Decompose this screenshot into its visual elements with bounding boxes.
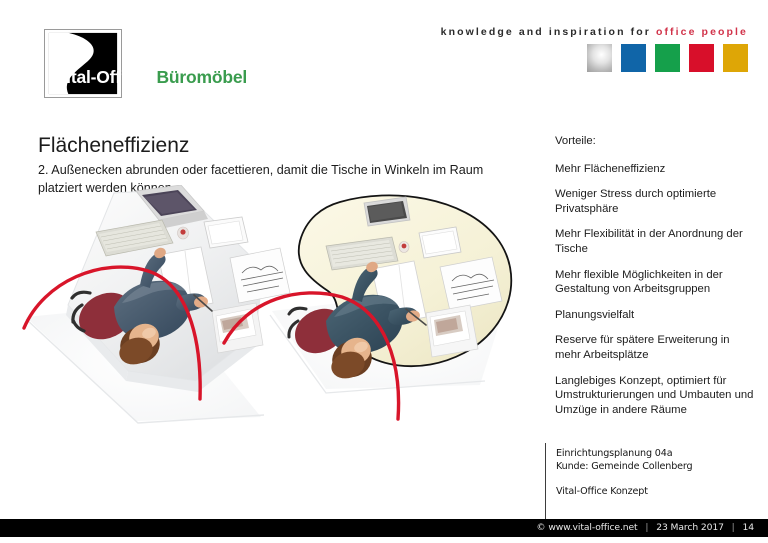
footer-separator-1: | [640, 522, 653, 533]
benefits-heading: Vorteile: [555, 134, 755, 149]
swatch-gold [723, 44, 748, 72]
swatch-red [689, 44, 714, 72]
footer-page-number: 14 [743, 522, 755, 533]
project-info: Einrichtungsplanung 04a Kunde: Gemeinde … [556, 447, 761, 498]
tagline-plain: knowledge and inspiration for [441, 26, 651, 38]
swatch-silver [587, 44, 612, 72]
figure-right-organic-desk [224, 195, 512, 419]
project-concept: Vital-Office Konzept [556, 485, 761, 498]
brand-wordmark: Vital-Office®Büromöbel [55, 62, 247, 86]
footer-date: 23 March 2017 [656, 522, 724, 533]
benefit-item-3: Mehr Flexibilität in der Anordnung der T… [555, 227, 755, 256]
footer-website[interactable]: www.vital-office.net [548, 522, 637, 533]
benefit-item-4: Mehr flexible Möglichkeiten in der Gesta… [555, 268, 755, 297]
benefit-item-7: Langlebiges Konzept, optimiert für Umstr… [555, 374, 755, 418]
slide-root: Vital-Office®Büromöbel knowledge and ins… [0, 0, 768, 543]
swatch-blue [621, 44, 646, 72]
brand-name-secondary: Büromöbel [151, 67, 247, 87]
paper-tray-right [426, 305, 478, 357]
benefits-list: Vorteile: Mehr Flächeneffizienz Weniger … [555, 134, 755, 428]
sketch-papers-left [230, 248, 290, 303]
brand-color-swatches [587, 44, 748, 72]
workplace-illustrations [18, 185, 538, 450]
benefit-item-2: Weniger Stress durch optimierte Privatsp… [555, 187, 755, 216]
copyright-icon: © [536, 522, 545, 533]
benefit-item-1: Mehr Flächeneffizienz [555, 162, 755, 177]
benefit-item-6: Reserve für spätere Erweiterung in mehr … [555, 333, 755, 362]
swatch-green [655, 44, 680, 72]
slide-footer: © www.vital-office.net | 23 March 2017 |… [0, 519, 768, 537]
brand-tagline: knowledge and inspiration for office peo… [441, 26, 748, 38]
project-plan-name: Einrichtungsplanung 04a [556, 447, 761, 460]
tagline-accent: office people [656, 26, 748, 38]
figure-left-angular-desk [24, 185, 290, 423]
figure-stage [18, 185, 538, 450]
page-title: Flächeneffizienz [38, 133, 508, 159]
footer-text: © www.vital-office.net | 23 March 2017 |… [536, 519, 754, 537]
project-client: Kunde: Gemeinde Collenberg [556, 460, 761, 473]
brand-name-primary: Vital-Office [55, 67, 145, 87]
sketch-papers-right [440, 257, 502, 311]
bottom-margin [0, 537, 768, 543]
footer-separator-2: | [727, 522, 740, 533]
slide-header: Vital-Office®Büromöbel knowledge and ins… [0, 0, 768, 104]
project-divider [545, 443, 546, 520]
benefit-item-5: Planungsvielfalt [555, 308, 755, 323]
